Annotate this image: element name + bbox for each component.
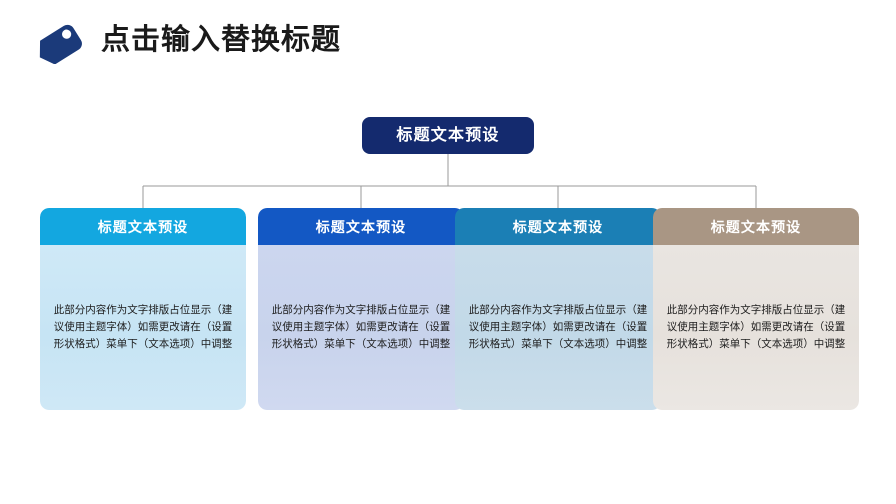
card-3[interactable]: 标题文本预设 此部分内容作为文字排版占位显示（建议使用主题字体）如需更改请在（设… — [455, 208, 661, 410]
card-4[interactable]: 标题文本预设 此部分内容作为文字排版占位显示（建议使用主题字体）如需更改请在（设… — [653, 208, 859, 410]
card-1[interactable]: 标题文本预设 此部分内容作为文字排版占位显示（建议使用主题字体）如需更改请在（设… — [40, 208, 246, 410]
card-2-header[interactable]: 标题文本预设 — [258, 208, 464, 245]
card-1-body-text: 此部分内容作为文字排版占位显示（建议使用主题字体）如需更改请在（设置形状格式）菜… — [52, 302, 234, 354]
card-1-header[interactable]: 标题文本预设 — [40, 208, 246, 245]
card-3-header[interactable]: 标题文本预设 — [455, 208, 661, 245]
card-4-header-label: 标题文本预设 — [711, 220, 802, 234]
card-1-body[interactable]: 此部分内容作为文字排版占位显示（建议使用主题字体）如需更改请在（设置形状格式）菜… — [40, 245, 246, 410]
root-node-label: 标题文本预设 — [396, 128, 499, 144]
card-1-header-label: 标题文本预设 — [98, 220, 189, 234]
card-4-body-text: 此部分内容作为文字排版占位显示（建议使用主题字体）如需更改请在（设置形状格式）菜… — [665, 302, 847, 354]
card-4-header[interactable]: 标题文本预设 — [653, 208, 859, 245]
card-2-header-label: 标题文本预设 — [316, 220, 407, 234]
card-3-body-text: 此部分内容作为文字排版占位显示（建议使用主题字体）如需更改请在（设置形状格式）菜… — [467, 302, 649, 354]
page-title: 点击输入替换标题 — [101, 26, 341, 55]
card-3-header-label: 标题文本预设 — [513, 220, 604, 234]
card-2-body[interactable]: 此部分内容作为文字排版占位显示（建议使用主题字体）如需更改请在（设置形状格式）菜… — [258, 245, 464, 410]
card-3-body[interactable]: 此部分内容作为文字排版占位显示（建议使用主题字体）如需更改请在（设置形状格式）菜… — [455, 245, 661, 410]
root-node[interactable]: 标题文本预设 — [362, 117, 534, 154]
card-2[interactable]: 标题文本预设 此部分内容作为文字排版占位显示（建议使用主题字体）如需更改请在（设… — [258, 208, 464, 410]
card-2-body-text: 此部分内容作为文字排版占位显示（建议使用主题字体）如需更改请在（设置形状格式）菜… — [270, 302, 452, 354]
page-title-row: 点击输入替换标题 — [33, 16, 341, 64]
card-4-body[interactable]: 此部分内容作为文字排版占位显示（建议使用主题字体）如需更改请在（设置形状格式）菜… — [653, 245, 859, 410]
tag-icon — [33, 16, 91, 64]
